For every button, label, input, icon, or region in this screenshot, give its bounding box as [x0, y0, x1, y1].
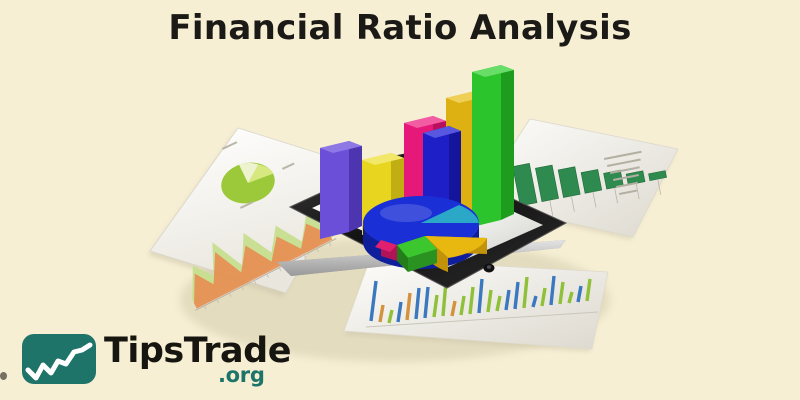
- tipstrade-logo[interactable]: TipsTrade .org: [22, 330, 292, 392]
- logo-tld: .org: [218, 364, 265, 386]
- bar-6: [472, 65, 514, 227]
- ascending-line-chart-icon: [22, 334, 96, 384]
- image-canvas: Financial Ratio Analysis: [0, 0, 800, 400]
- edge-artifact: [0, 372, 7, 380]
- bar-1: [320, 141, 362, 239]
